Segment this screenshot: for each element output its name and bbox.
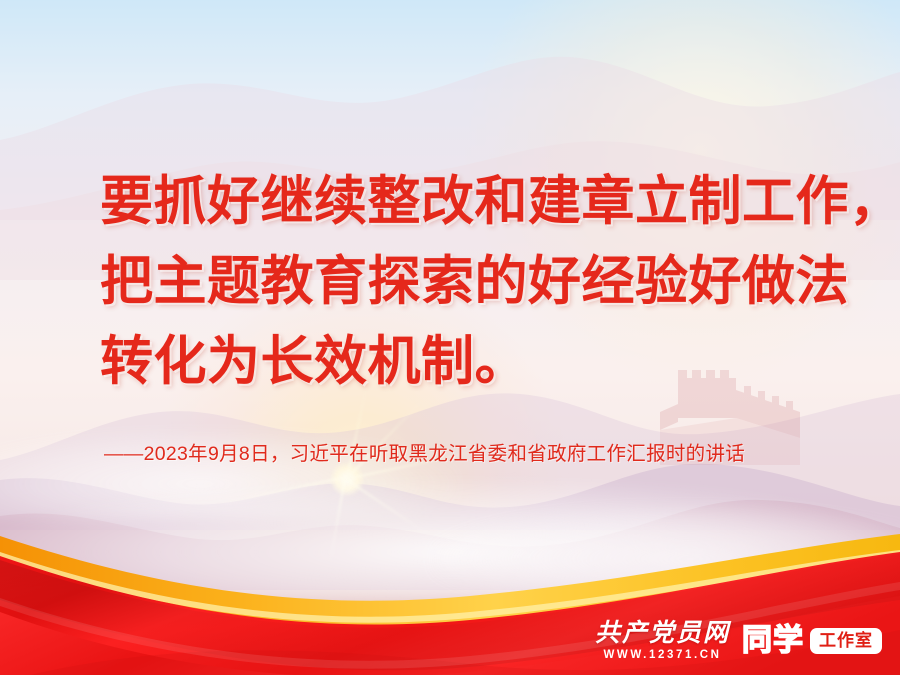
headline-line-2: 把主题教育探索的好经验好做法 <box>100 242 860 322</box>
headline-line-1: 要抓好继续整改和建章立制工作， <box>100 162 860 242</box>
logo-studio[interactable]: 同学 工作室 <box>742 626 882 656</box>
headline-line-3: 转化为长效机制。 <box>100 322 860 402</box>
logo-bar: 共产党员网 WWW.12371.CN 同学 工作室 <box>595 621 882 662</box>
site-url-label: WWW.12371.CN <box>603 650 721 662</box>
attribution-text: ——2023年9月8日，习近平在听取黑龙江省委和省政府工作汇报时的讲话 <box>104 437 745 466</box>
logo-12371[interactable]: 共产党员网 WWW.12371.CN <box>595 621 730 662</box>
studio-name-label: 同学 <box>742 626 806 656</box>
poster-canvas: 要抓好继续整改和建章立制工作， 把主题教育探索的好经验好做法 转化为长效机制。 … <box>0 0 900 675</box>
headline-block: 要抓好继续整改和建章立制工作， 把主题教育探索的好经验好做法 转化为长效机制。 <box>100 162 860 402</box>
site-name-label: 共产党员网 <box>595 621 730 646</box>
studio-badge-label: 工作室 <box>810 628 882 654</box>
